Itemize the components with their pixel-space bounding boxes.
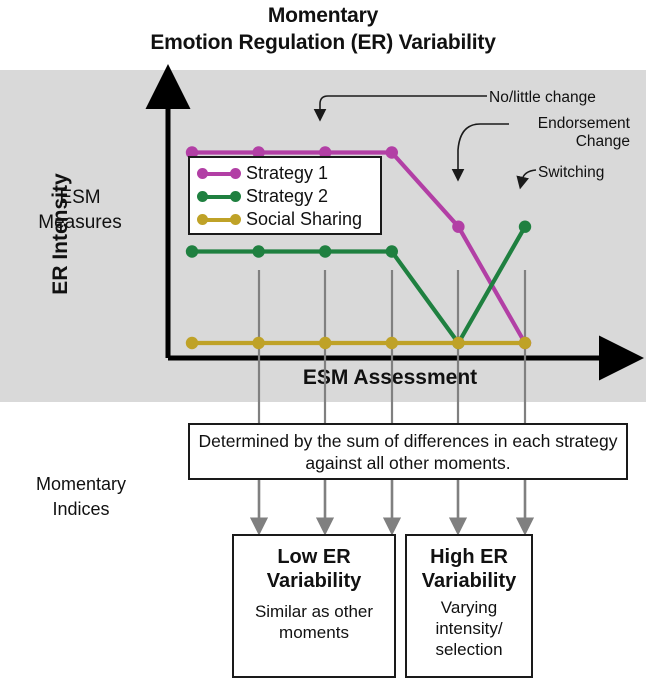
- legend-item-social-sharing: Social Sharing: [197, 208, 374, 231]
- data-point: [519, 221, 531, 233]
- legend-label-strategy-1: Strategy 1: [246, 164, 328, 183]
- data-point: [186, 245, 198, 257]
- high-er-heading-line-1: High ER: [407, 545, 531, 569]
- outcome-arrow-group: [259, 480, 525, 520]
- annotation-switching: Switching: [538, 164, 604, 182]
- annotation-no-little-change: No/little change: [489, 89, 596, 107]
- data-point: [386, 337, 398, 349]
- legend-item-strategy-1: Strategy 1: [197, 162, 374, 185]
- low-er-heading-line-1: Low ER: [234, 545, 394, 569]
- no-little-change-leader: [320, 96, 487, 112]
- data-point: [386, 245, 398, 257]
- legend-label-strategy-2: Strategy 2: [246, 187, 328, 206]
- outcome-box-low-er-variability: Low ER Variability Similar as other mome…: [232, 534, 396, 678]
- data-point: [452, 337, 464, 349]
- legend-label-social-sharing: Social Sharing: [246, 210, 362, 229]
- determined-by-box: Determined by the sum of differences in …: [188, 423, 628, 480]
- figure-root: Momentary Emotion Regulation (ER) Variab…: [0, 0, 646, 683]
- data-point: [319, 245, 331, 257]
- legend-item-strategy-2: Strategy 2: [197, 185, 374, 208]
- high-er-body: Varying intensity/ selection: [407, 597, 531, 660]
- chart-legend: Strategy 1 Strategy 2 Social Sharing: [188, 156, 382, 235]
- low-er-body: Similar as other moments: [234, 601, 394, 643]
- data-point: [386, 146, 398, 158]
- high-er-heading-line-2: Variability: [407, 569, 531, 593]
- series-line: [192, 227, 525, 343]
- legend-swatch-strategy-1: [197, 167, 241, 181]
- low-er-heading-line-2: Variability: [234, 569, 394, 593]
- data-point: [452, 221, 464, 233]
- data-point: [319, 337, 331, 349]
- legend-swatch-strategy-2: [197, 190, 241, 204]
- outcome-box-high-er-variability: High ER Variability Varying intensity/ s…: [405, 534, 533, 678]
- legend-swatch-social-sharing: [197, 213, 241, 227]
- determined-by-text: Determined by the sum of differences in …: [196, 430, 620, 474]
- data-point: [252, 337, 264, 349]
- data-point: [252, 245, 264, 257]
- endorsement-change-leader: [458, 124, 509, 172]
- annotation-endorsement-change: Endorsement Change: [512, 115, 630, 151]
- switching-leader: [522, 170, 536, 180]
- data-point: [519, 337, 531, 349]
- data-point: [186, 337, 198, 349]
